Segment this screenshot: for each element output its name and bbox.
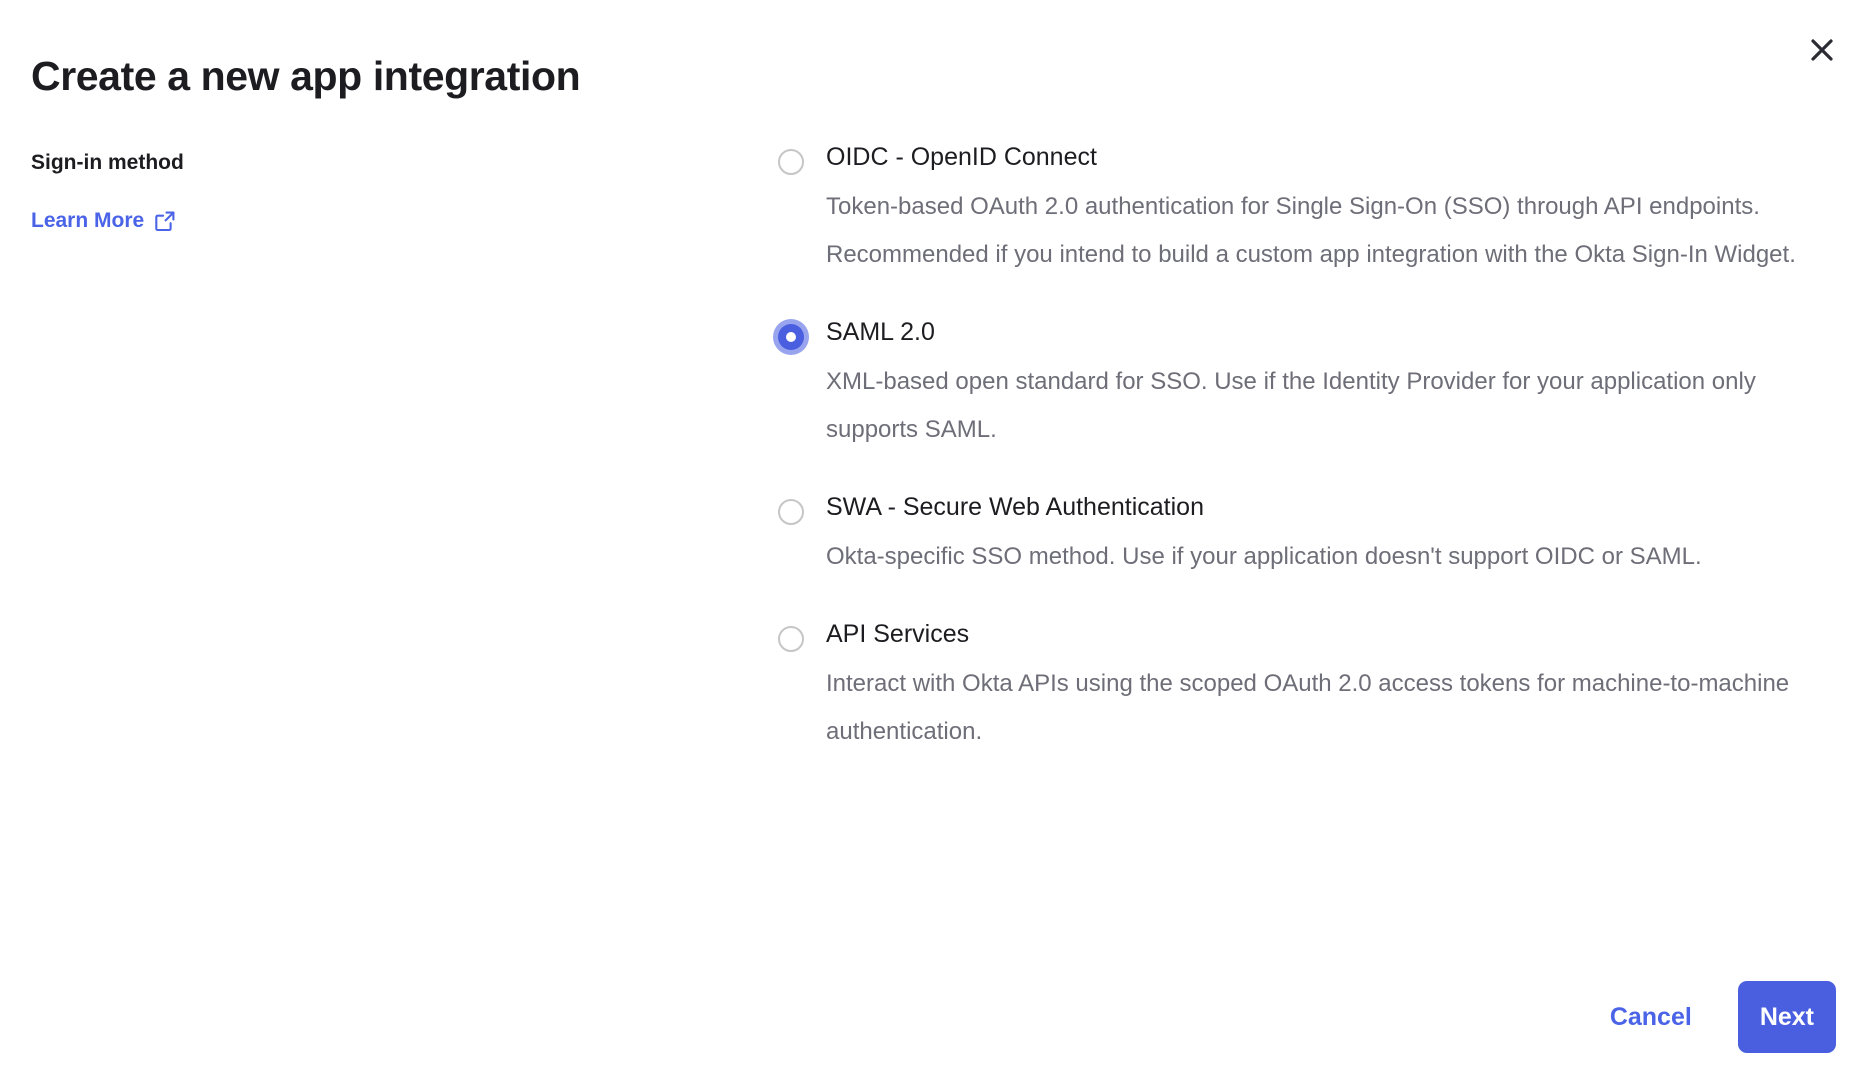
option-description-oidc: Token-based OAuth 2.0 authentication for…	[826, 183, 1836, 279]
next-button[interactable]: Next	[1738, 981, 1836, 1053]
page-title: Create a new app integration	[31, 48, 580, 104]
radio-swa[interactable]	[778, 499, 804, 525]
radio-saml[interactable]	[778, 324, 804, 350]
dialog-body: Sign-in method Learn More OIDC - OpenID …	[0, 140, 1864, 960]
option-label-api-services: API Services	[826, 617, 1840, 651]
left-column: Sign-in method Learn More	[31, 148, 591, 236]
cancel-button[interactable]: Cancel	[1610, 1000, 1692, 1034]
external-link-icon	[154, 210, 176, 232]
option-oidc[interactable]: OIDC - OpenID Connect Token-based OAuth …	[770, 140, 1840, 279]
close-button[interactable]	[1794, 22, 1850, 78]
radio-api-services[interactable]	[778, 626, 804, 652]
dialog-footer: Cancel Next	[0, 960, 1864, 1074]
sign-in-method-radio-group[interactable]: OIDC - OpenID Connect Token-based OAuth …	[770, 140, 1840, 756]
option-label-saml: SAML 2.0	[826, 315, 1840, 349]
create-app-integration-dialog: Create a new app integration Sign-in met…	[0, 0, 1864, 1074]
option-description-api-services: Interact with Okta APIs using the scoped…	[826, 660, 1836, 756]
radio-oidc[interactable]	[778, 149, 804, 175]
learn-more-link[interactable]: Learn More	[31, 206, 176, 236]
option-label-swa: SWA - Secure Web Authentication	[826, 490, 1840, 524]
sign-in-method-label: Sign-in method	[31, 148, 591, 178]
option-label-oidc: OIDC - OpenID Connect	[826, 140, 1840, 174]
learn-more-label: Learn More	[31, 206, 144, 236]
close-icon	[1809, 37, 1835, 63]
option-saml[interactable]: SAML 2.0 XML-based open standard for SSO…	[770, 315, 1840, 454]
option-swa[interactable]: SWA - Secure Web Authentication Okta-spe…	[770, 490, 1840, 581]
option-description-swa: Okta-specific SSO method. Use if your ap…	[826, 533, 1836, 581]
option-api-services[interactable]: API Services Interact with Okta APIs usi…	[770, 617, 1840, 756]
option-description-saml: XML-based open standard for SSO. Use if …	[826, 358, 1836, 454]
